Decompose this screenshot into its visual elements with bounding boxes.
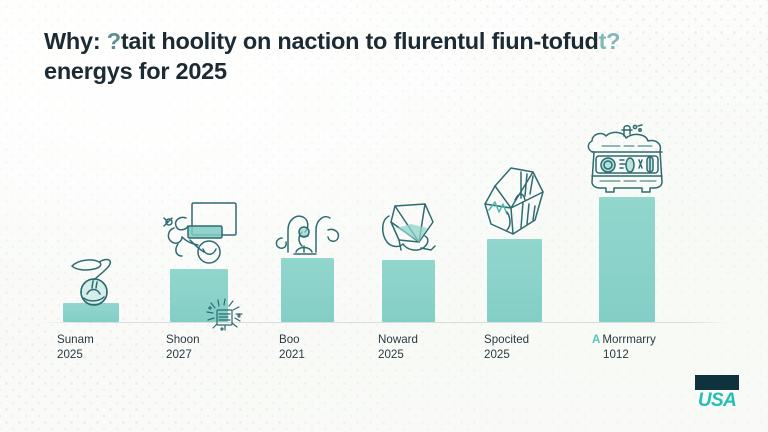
category-label-morrmarry: AMorrmarry 1012: [592, 332, 656, 362]
monitor-sketch-icon: [160, 200, 242, 270]
spoon-sketch-icon: [66, 250, 128, 310]
category-year: 2025: [484, 347, 529, 362]
glass-sketch-icon: [377, 198, 445, 262]
category-year: 2025: [378, 347, 418, 362]
machine-sketch-icon: [578, 124, 678, 200]
bar-spocited[interactable]: [487, 239, 542, 322]
chart-baseline: [40, 322, 730, 323]
slide-canvas: Why: ?tait hoolity on naction to flurent…: [0, 0, 768, 432]
category-name: Boo: [279, 332, 305, 347]
category-year: 2025: [57, 347, 94, 362]
category-label-shoon: Shoon 2027: [166, 332, 200, 362]
category-highlight-mark: A: [592, 333, 600, 346]
category-label-sunam: Sunam 2025: [57, 332, 94, 362]
bar-boo[interactable]: [281, 258, 334, 322]
bar-morrmarry[interactable]: [599, 197, 655, 322]
category-label-spocited: Spocited 2025: [484, 332, 529, 362]
category-name-text: Morrmarry: [602, 333, 655, 346]
crystal-sketch-icon: [477, 162, 557, 240]
bar-shoon[interactable]: [170, 269, 228, 322]
category-name: Noward: [378, 332, 418, 347]
category-label-noward: Noward 2025: [378, 332, 418, 362]
category-label-boo: Boo 2021: [279, 332, 305, 362]
lamp-sketch-icon: [272, 208, 344, 260]
category-year: 2027: [166, 347, 200, 362]
bar-noward[interactable]: [382, 260, 435, 322]
category-name: AMorrmarry: [592, 332, 656, 347]
bar-sunam[interactable]: [63, 303, 119, 322]
logo-bar: [695, 375, 739, 390]
category-name: Spocited: [484, 332, 529, 347]
category-name: Sunam: [57, 332, 94, 347]
usa-logo: USA: [692, 375, 742, 410]
bar-chart: Sunam 2025 Shoon 2027 Boo 2021 Noward 20…: [0, 0, 768, 432]
category-name: Shoon: [166, 332, 200, 347]
category-year: 2021: [279, 347, 305, 362]
logo-wordmark: USA: [692, 391, 742, 410]
category-year: 1012: [592, 347, 656, 362]
